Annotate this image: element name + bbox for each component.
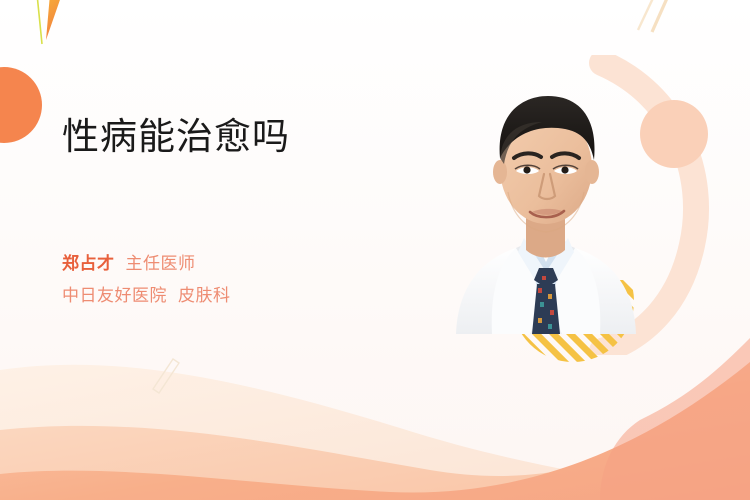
doctor-question-banner: 性病能治愈吗 郑占才主任医师 中日友好医院皮肤科 (0, 0, 750, 500)
credentials-line-hospital-dept: 中日友好医院皮肤科 (62, 280, 231, 312)
doctor-department: 皮肤科 (178, 286, 231, 305)
doctor-hospital: 中日友好医院 (62, 286, 167, 305)
outlined-diagonal-bar-icon (145, 355, 190, 400)
page-title: 性病能治愈吗 (62, 116, 290, 159)
doctor-portrait (438, 72, 653, 334)
doctor-role: 主任医师 (126, 254, 196, 273)
doctor-name: 郑占才 (62, 254, 115, 273)
top-left-diagonal-lines-icon (20, 0, 100, 58)
credentials-line-name-role: 郑占才主任医师 (62, 248, 231, 280)
doctor-credentials: 郑占才主任医师 中日友好医院皮肤科 (62, 248, 231, 313)
top-right-diagonal-lines-icon (630, 0, 690, 38)
